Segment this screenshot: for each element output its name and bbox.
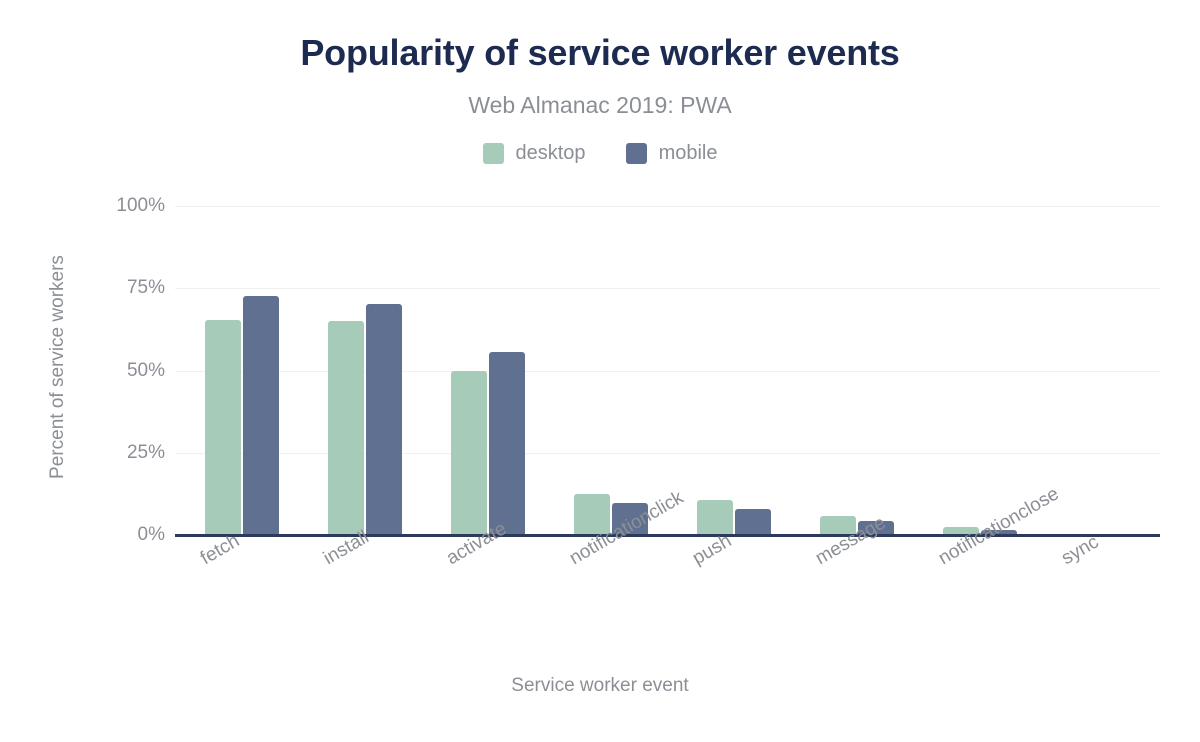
bar-group-install [298,206,421,535]
bar-install-mobile[interactable] [366,304,402,535]
y-axis-title: Percent of service workers [46,237,70,497]
chart-legend: desktopmobile [0,141,1200,165]
bar-push-mobile[interactable] [735,509,771,535]
y-tick-label: 0% [60,524,165,546]
bar-group-sync [1037,206,1160,535]
bar-fetch-mobile[interactable] [243,296,279,535]
y-tick-label: 50% [60,360,165,382]
bar-group-push [668,206,791,535]
plot-area [175,206,1160,535]
bar-activate-desktop[interactable] [451,371,487,536]
y-tick-label: 25% [60,442,165,464]
legend-label: desktop [516,141,586,165]
y-tick-label: 100% [60,195,165,217]
legend-swatch-icon [626,143,647,164]
x-axis-line [175,534,1160,537]
bar-group-message [791,206,914,535]
bar-group-notificationclick [544,206,667,535]
y-tick-label: 75% [60,277,165,299]
bar-activate-mobile[interactable] [489,352,525,535]
bar-group-fetch [175,206,298,535]
bar-push-desktop[interactable] [697,500,733,535]
chart-subtitle: Web Almanac 2019: PWA [0,90,1200,120]
bar-fetch-desktop[interactable] [205,320,241,535]
bar-group-activate [421,206,544,535]
legend-label: mobile [659,141,718,165]
x-axis-title: Service worker event [0,674,1200,698]
legend-swatch-icon [483,143,504,164]
legend-item-mobile[interactable]: mobile [626,141,718,165]
bar-install-desktop[interactable] [328,321,364,535]
chart-container: Popularity of service worker events Web … [0,0,1200,742]
bar-group-notificationclose [914,206,1037,535]
legend-item-desktop[interactable]: desktop [483,141,586,165]
x-tick-label-sync: sync [1058,531,1103,570]
chart-title: Popularity of service worker events [0,30,1200,76]
